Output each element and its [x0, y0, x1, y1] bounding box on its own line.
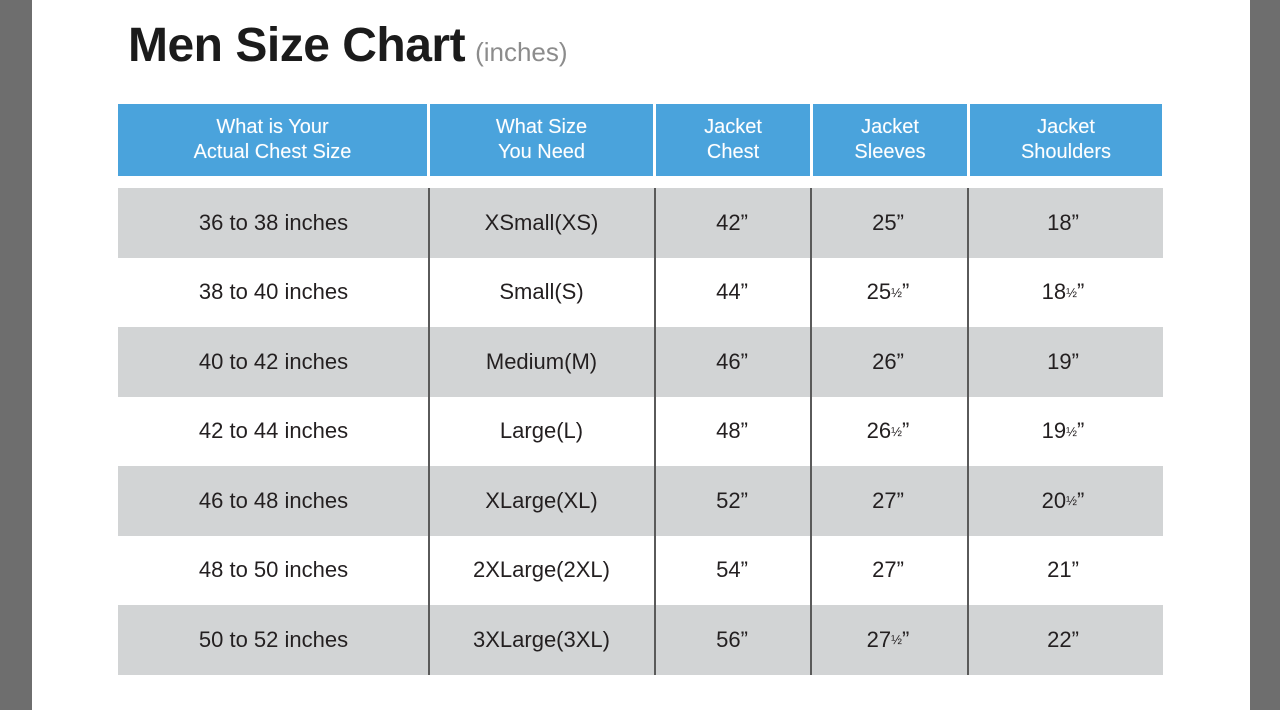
column-header-line1: What is Your [216, 115, 328, 140]
cell-jacket-sleeves: 27½” [810, 605, 966, 675]
cell-size-needed: Medium(M) [429, 327, 654, 397]
column-header-jacket-chest: Jacket Chest [656, 104, 810, 176]
column-header-line2: Sleeves [854, 140, 925, 165]
cell-size-needed: 3XLarge(3XL) [429, 605, 654, 675]
table-body: 36 to 38 inches XSmall(XS) 42” 25” 18” 3… [118, 188, 1163, 675]
column-header-line2: You Need [498, 140, 585, 165]
column-header-line2: Shoulders [1021, 140, 1111, 165]
cell-jacket-chest: 44” [654, 258, 810, 328]
cell-chest-size: 36 to 38 inches [118, 188, 429, 258]
table-row: 36 to 38 inches XSmall(XS) 42” 25” 18” [118, 188, 1163, 258]
cell-chest-size: 40 to 42 inches [118, 327, 429, 397]
cell-jacket-sleeves: 25” [810, 188, 966, 258]
column-divider-4 [967, 188, 969, 675]
cell-size-needed: 2XLarge(2XL) [429, 536, 654, 606]
column-header-line1: Jacket [704, 115, 762, 140]
cell-chest-size: 48 to 50 inches [118, 536, 429, 606]
table-row: 40 to 42 inches Medium(M) 46” 26” 19” [118, 327, 1163, 397]
page-title-main: Men Size Chart [128, 18, 465, 73]
cell-jacket-sleeves: 26” [810, 327, 966, 397]
cell-size-needed: XLarge(XL) [429, 466, 654, 536]
cell-jacket-shoulders: 19” [966, 327, 1160, 397]
cell-chest-size: 46 to 48 inches [118, 466, 429, 536]
cell-jacket-shoulders: 19½” [966, 397, 1160, 467]
column-header-line1: What Size [496, 115, 587, 140]
slide-canvas: Men Size Chart (inches) What is Your Act… [32, 0, 1250, 710]
column-header-jacket-shoulders: Jacket Shoulders [970, 104, 1162, 176]
cell-jacket-sleeves: 27” [810, 536, 966, 606]
cell-jacket-sleeves: 25½” [810, 258, 966, 328]
table-row: 48 to 50 inches 2XLarge(2XL) 54” 27” 21” [118, 536, 1163, 606]
cell-jacket-shoulders: 22” [966, 605, 1160, 675]
column-header-line1: Jacket [1037, 115, 1095, 140]
cell-chest-size: 38 to 40 inches [118, 258, 429, 328]
cell-jacket-chest: 48” [654, 397, 810, 467]
cell-jacket-shoulders: 18½” [966, 258, 1160, 328]
cell-jacket-shoulders: 18” [966, 188, 1160, 258]
column-header-size-needed: What Size You Need [430, 104, 653, 176]
cell-jacket-shoulders: 21” [966, 536, 1160, 606]
size-chart-table: What is Your Actual Chest Size What Size… [118, 104, 1163, 675]
table-row: 50 to 52 inches 3XLarge(3XL) 56” 27½” 22… [118, 605, 1163, 675]
column-divider-1 [428, 188, 430, 675]
cell-jacket-chest: 46” [654, 327, 810, 397]
cell-jacket-chest: 56” [654, 605, 810, 675]
table-row: 38 to 40 inches Small(S) 44” 25½” 18½” [118, 258, 1163, 328]
column-divider-2 [654, 188, 656, 675]
table-row: 46 to 48 inches XLarge(XL) 52” 27” 20½” [118, 466, 1163, 536]
page-title: Men Size Chart (inches) [128, 18, 568, 73]
cell-jacket-sleeves: 27” [810, 466, 966, 536]
cell-chest-size: 42 to 44 inches [118, 397, 429, 467]
cell-jacket-chest: 54” [654, 536, 810, 606]
column-header-line2: Actual Chest Size [194, 140, 352, 165]
cell-size-needed: XSmall(XS) [429, 188, 654, 258]
table-row: 42 to 44 inches Large(L) 48” 26½” 19½” [118, 397, 1163, 467]
page-title-unit: (inches) [475, 37, 567, 68]
column-header-chest-size: What is Your Actual Chest Size [118, 104, 427, 176]
column-header-jacket-sleeves: Jacket Sleeves [813, 104, 967, 176]
cell-chest-size: 50 to 52 inches [118, 605, 429, 675]
column-header-line2: Chest [707, 140, 759, 165]
table-header-row: What is Your Actual Chest Size What Size… [118, 104, 1163, 176]
cell-size-needed: Large(L) [429, 397, 654, 467]
right-letterbox-band [1250, 0, 1280, 710]
cell-jacket-sleeves: 26½” [810, 397, 966, 467]
cell-jacket-shoulders: 20½” [966, 466, 1160, 536]
column-divider-3 [810, 188, 812, 675]
left-letterbox-band [0, 0, 32, 710]
column-header-line1: Jacket [861, 115, 919, 140]
cell-size-needed: Small(S) [429, 258, 654, 328]
cell-jacket-chest: 52” [654, 466, 810, 536]
cell-jacket-chest: 42” [654, 188, 810, 258]
